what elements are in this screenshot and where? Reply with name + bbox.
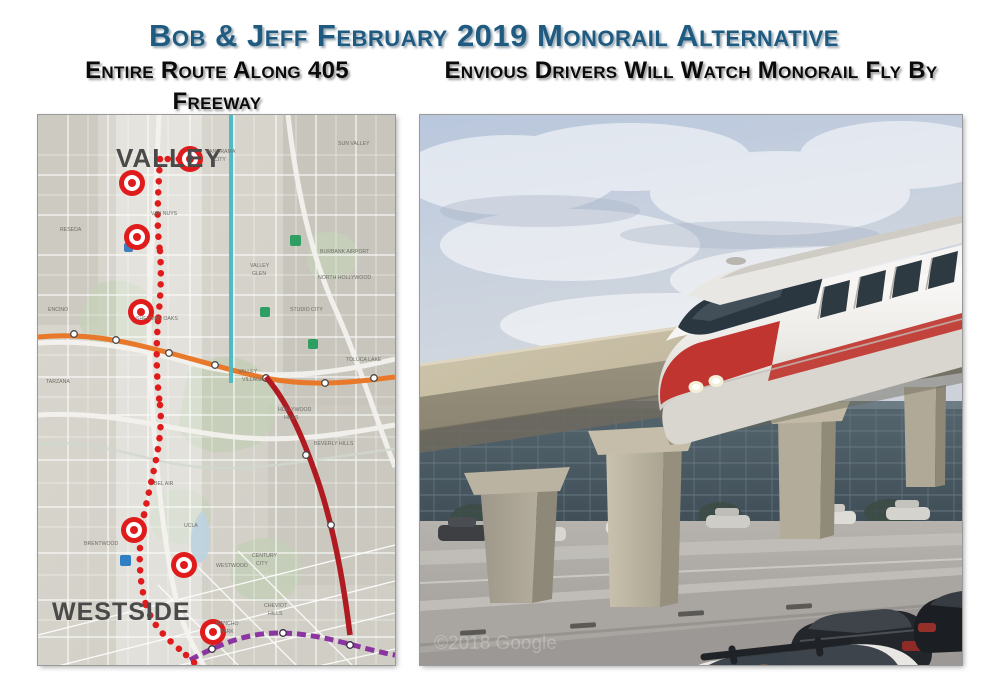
- svg-text:ENCINO: ENCINO: [48, 307, 68, 313]
- svg-text:NORTH HOLLYWOOD: NORTH HOLLYWOOD: [318, 275, 371, 281]
- left-panel-caption: Entire Route Along 405 Freeway: [38, 56, 396, 117]
- svg-text:HOLLYWOOD: HOLLYWOOD: [278, 407, 312, 413]
- svg-text:BEL AIR: BEL AIR: [154, 481, 174, 487]
- route-map-panel: VALLEY WESTSIDE PANORAMA CITY VAN NUYS V…: [38, 115, 395, 665]
- svg-text:VAN NUYS: VAN NUYS: [151, 211, 178, 217]
- svg-text:UCLA: UCLA: [184, 523, 198, 529]
- svg-text:GLEN: GLEN: [252, 271, 266, 277]
- svg-text:WESTWOOD: WESTWOOD: [216, 563, 248, 569]
- svg-text:CITY: CITY: [256, 561, 268, 567]
- right-panel-caption: Envious Drivers Will Watch Monorail Fly …: [420, 56, 962, 87]
- map-area-label-valley: VALLEY: [116, 143, 223, 173]
- google-watermark: ©2018 Google: [434, 633, 557, 654]
- svg-text:HILLS: HILLS: [268, 611, 283, 617]
- svg-text:STUDIO CITY: STUDIO CITY: [290, 307, 323, 313]
- svg-text:BEVERLY HILLS: BEVERLY HILLS: [314, 441, 354, 447]
- route-map-graphic: VALLEY WESTSIDE PANORAMA CITY VAN NUYS V…: [38, 115, 395, 665]
- svg-text:VALLEY: VALLEY: [250, 263, 270, 269]
- svg-text:RESEDA: RESEDA: [60, 227, 82, 233]
- monorail-rendering-panel: ©2018 Google: [420, 115, 962, 665]
- svg-text:PARK: PARK: [220, 629, 234, 635]
- page-title: Bob & Jeff February 2019 Monorail Altern…: [0, 18, 988, 54]
- svg-text:PANORAMA: PANORAMA: [206, 149, 236, 155]
- svg-text:CHEVIOT: CHEVIOT: [264, 603, 288, 609]
- svg-text:VALLEY: VALLEY: [238, 369, 258, 375]
- map-area-label-westside: WESTSIDE: [52, 598, 191, 626]
- svg-text:BRENTWOOD: BRENTWOOD: [84, 541, 119, 547]
- svg-text:VILLAGE: VILLAGE: [242, 377, 264, 383]
- svg-text:SHERMAN OAKS: SHERMAN OAKS: [136, 316, 178, 322]
- svg-text:HILLS: HILLS: [284, 415, 299, 421]
- monorail-rendering-graphic: ©2018 Google: [420, 115, 962, 665]
- svg-text:BURBANK AIRPORT: BURBANK AIRPORT: [320, 249, 370, 255]
- svg-text:SUN VALLEY: SUN VALLEY: [338, 141, 370, 147]
- svg-text:TOLUCA LAKE: TOLUCA LAKE: [346, 357, 382, 363]
- guideway-pier-far: [904, 385, 946, 487]
- svg-text:RANCHO: RANCHO: [216, 621, 238, 627]
- svg-text:CENTURY: CENTURY: [252, 553, 278, 559]
- svg-text:CITY: CITY: [214, 157, 226, 163]
- svg-text:TARZANA: TARZANA: [46, 379, 70, 385]
